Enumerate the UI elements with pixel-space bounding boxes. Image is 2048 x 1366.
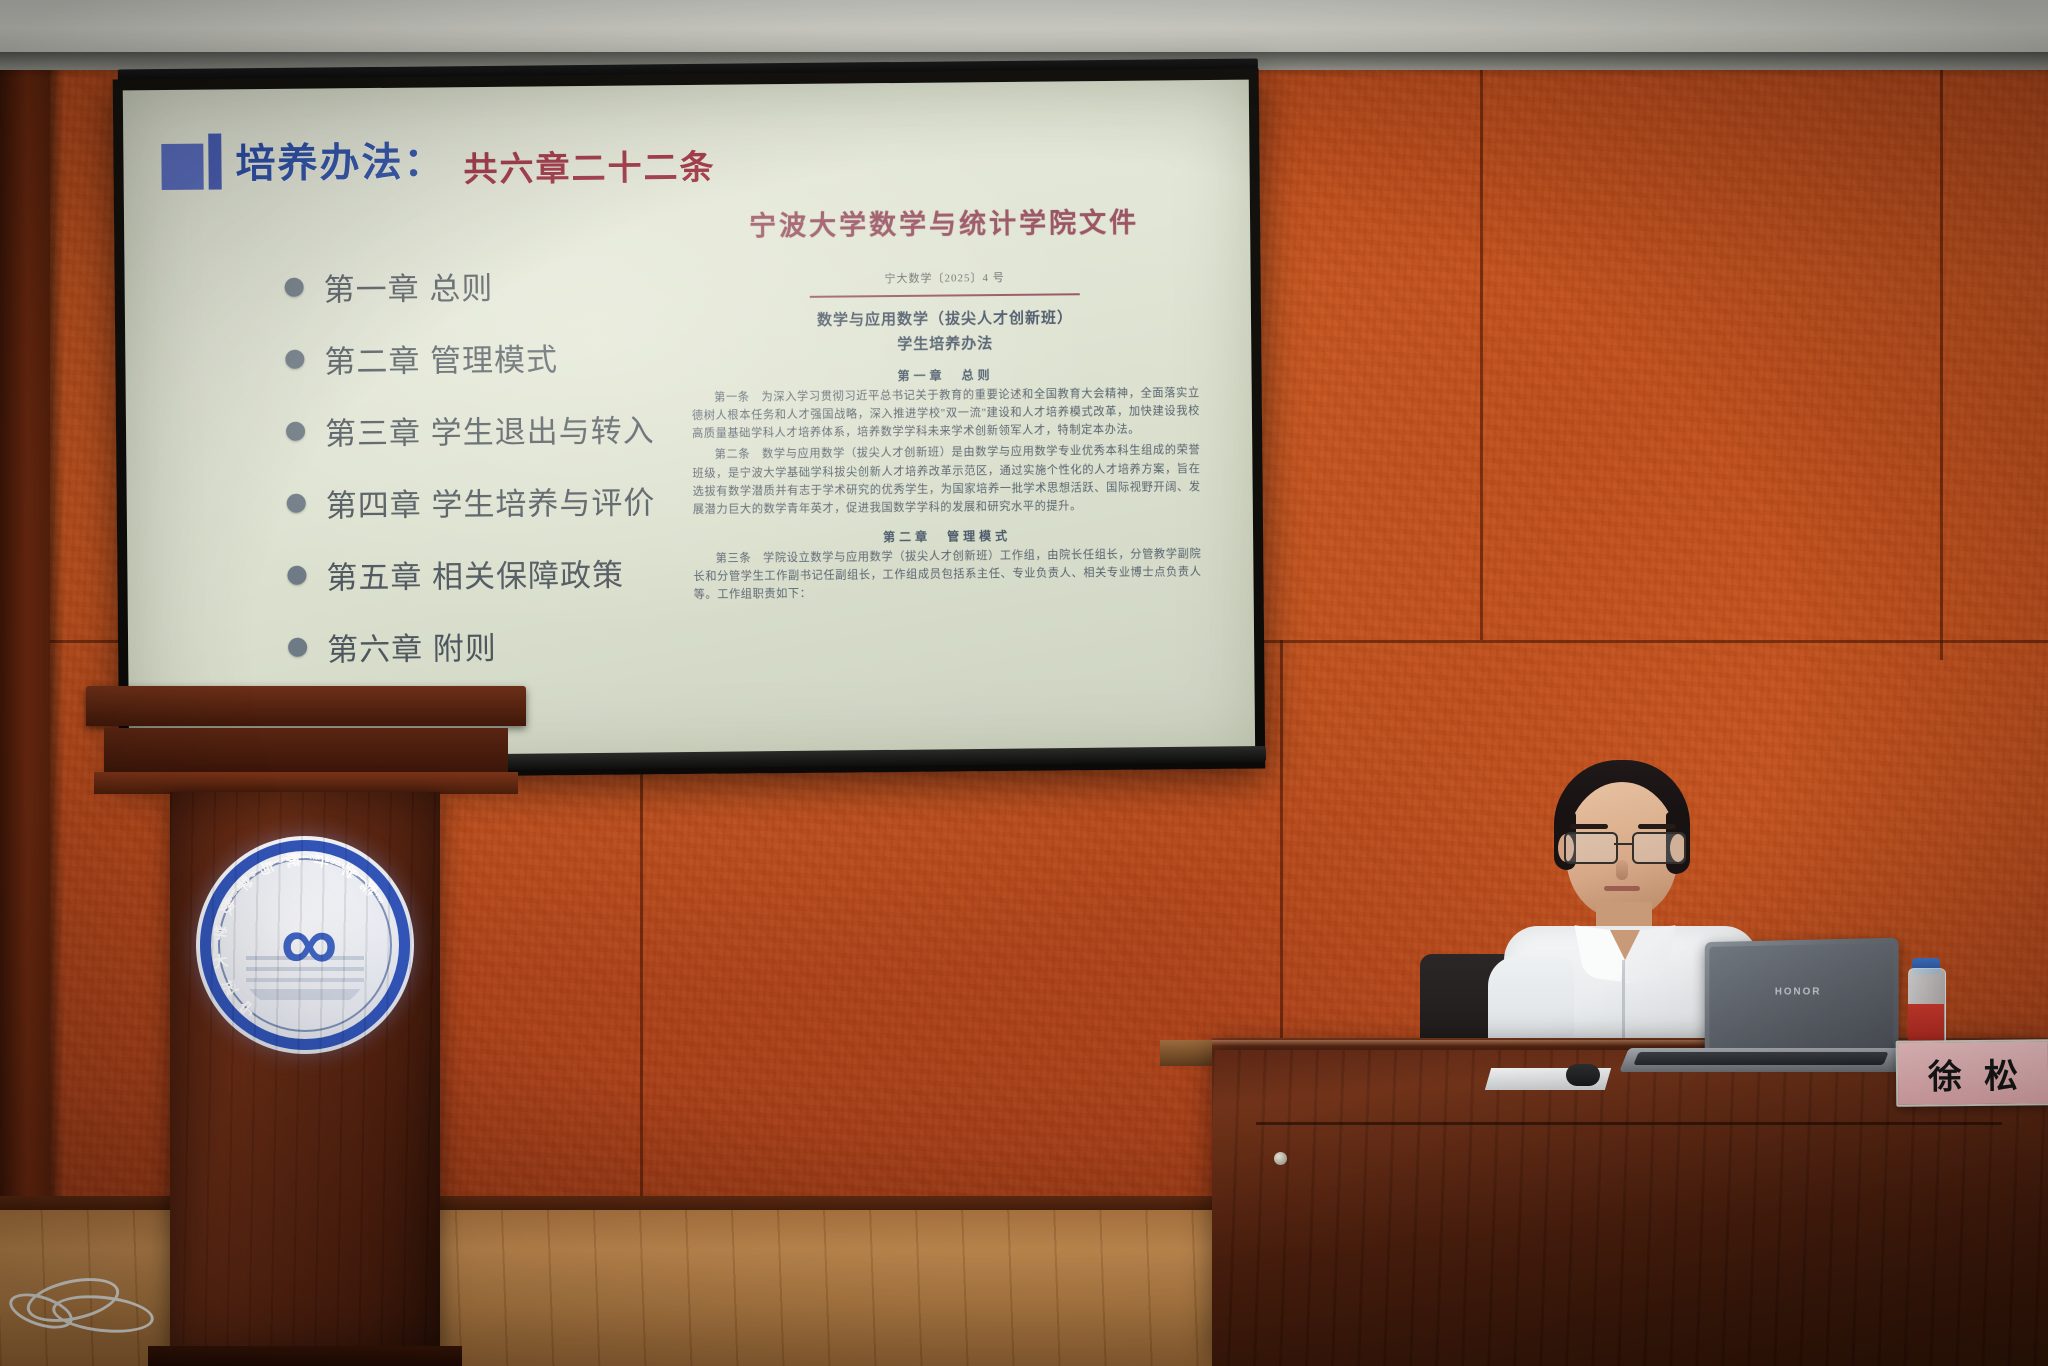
emblem-char: c: [227, 891, 237, 902]
bullet-dot-icon: [285, 278, 304, 297]
document-chapter-2: 第二章 管理模式: [687, 525, 1207, 547]
laptop-screen-back: [1709, 943, 1893, 1055]
emblem-char: s: [363, 879, 374, 890]
emblem-char: 学: [334, 858, 360, 881]
emblem-infinity-icon: ∞: [280, 903, 329, 983]
emblem-char: m: [286, 853, 297, 862]
emblem-char: s: [313, 855, 324, 861]
person-nose: [1616, 860, 1628, 880]
desk-knob: [1274, 1152, 1287, 1165]
emblem-char: e: [281, 855, 292, 862]
left-wall-pillar: [0, 40, 50, 1340]
wall-seam-vertical-2: [1480, 40, 1483, 640]
emblem-char: a: [323, 856, 334, 863]
emblem-char: f: [253, 867, 263, 875]
list-item: 第三章 学生退出与转入: [286, 405, 655, 454]
eyeglasses: [1562, 832, 1684, 862]
bullet-dot-icon: [287, 494, 306, 513]
emblem-char: i: [371, 887, 379, 897]
emblem-char: c: [374, 891, 384, 902]
emblem-char: s: [377, 895, 386, 906]
emblem-char: i: [360, 876, 369, 885]
emblem-char: o: [236, 879, 247, 890]
emblem-char: o: [233, 883, 244, 894]
podium-base: [148, 1346, 462, 1366]
emblem-char: a: [266, 859, 277, 867]
emblem-inner-ring: [218, 858, 392, 1032]
emblem-char: c: [308, 854, 318, 860]
screenshot-root: 培养办法： 共六章二十二条 第一章 总则 第二章 管理模式 第三章 学生退出与转…: [0, 0, 2048, 1366]
emblem-char: 宁: [235, 996, 261, 1021]
bullet-label: 第一章 总则: [323, 263, 493, 310]
laptop-lid: HONOR: [1705, 938, 1899, 1061]
emblem-char: 大: [211, 949, 230, 972]
name-plate: 徐 松: [1896, 1039, 2048, 1107]
emblem-char: s: [342, 864, 353, 873]
emblem-char: t: [271, 859, 281, 865]
lectern-podium: ∞ 宁波大学数学与统计学院 School of mathematics and …: [86, 686, 526, 1366]
document-title-line1: 数学与应用数学（拔尖人才创新班）: [685, 306, 1205, 333]
emblem-char: 学: [211, 922, 229, 945]
emblem-steps-graphic: [246, 956, 364, 1000]
list-item: 第六章 附则: [288, 621, 657, 670]
emblem-char: i: [303, 856, 313, 859]
podium-lip: [94, 772, 518, 794]
emblem-char: h: [229, 887, 239, 898]
slide-heading-main: 培养办法：: [235, 129, 446, 189]
title-marker-icon: [161, 133, 222, 190]
emblem-char: l: [241, 876, 250, 885]
emblem-char: 计: [309, 851, 332, 870]
desk-panel-line: [1256, 1122, 2002, 1125]
bullet-label: 第四章 学生培养与评价: [326, 477, 656, 525]
bullet-label: 第三章 学生退出与转入: [325, 405, 655, 453]
emblem-char: m: [261, 860, 273, 872]
nameplate-surname: 徐: [1928, 1049, 1963, 1098]
emblem-char: t: [297, 855, 307, 858]
glasses-bridge: [1614, 843, 1634, 845]
emblem-center: ∞: [234, 874, 376, 1016]
person-mouth: [1604, 886, 1640, 891]
bullet-dot-icon: [288, 638, 307, 657]
emblem-char: t: [347, 867, 357, 875]
bullet-label: 第五章 相关保障政策: [326, 550, 624, 598]
document-divider: [810, 293, 1080, 298]
bullet-dot-icon: [285, 350, 304, 369]
document-article-1: 第一条 为深入学习贯彻习近平总书记关于教育的重要论述和全国教育大会精神，全面落实…: [686, 384, 1206, 443]
podium-top-surface: [86, 686, 526, 726]
document-chapter-1: 第一章 总则: [685, 364, 1205, 386]
person-eyebrow-left: [1570, 824, 1608, 829]
list-item: 第二章 管理模式: [285, 333, 654, 382]
emblem-char: 院: [356, 875, 381, 901]
glasses-lens-right: [1632, 832, 1686, 864]
person-eyebrow-right: [1638, 824, 1676, 829]
list-item: 第四章 学生培养与评价: [287, 477, 656, 526]
emblem-outer-ring: [200, 840, 410, 1050]
laptop-brand-logo: HONOR: [1775, 986, 1822, 997]
bullet-label: 第二章 管理模式: [324, 334, 558, 381]
water-bottle-label: [1908, 1004, 1944, 1044]
document-number: 宁大数学〔2025〕4 号: [685, 267, 1205, 288]
emblem-char: t: [368, 883, 377, 893]
nameplate-givenname: 松: [1984, 1048, 2019, 1097]
slide-bullet-list: 第一章 总则 第二章 管理模式 第三章 学生退出与转入 第四章 学生培养与评价: [284, 261, 657, 697]
document-article-3: 第三条 学院设立数学与应用数学（拔尖人才创新班）工作组，由院长任组长，分管教学副…: [687, 545, 1207, 604]
emblem-char: t: [356, 873, 366, 882]
computer-mouse[interactable]: [1566, 1064, 1600, 1086]
slide-title: 培养办法： 共六章二十二条: [161, 127, 716, 190]
bullet-dot-icon: [286, 422, 305, 441]
document-title-line2: 学生培养办法: [685, 331, 1205, 358]
emblem-char: h: [276, 856, 287, 864]
emblem-char: a: [351, 869, 362, 879]
bullet-dot-icon: [287, 566, 306, 585]
emblem-char: 统: [282, 851, 305, 869]
document-scan-image: 宁波大学数学与统计学院文件 宁大数学〔2025〕4 号 数学与应用数学（拔尖人才…: [684, 200, 1209, 705]
projection-screen: 培养办法： 共六章二十二条 第一章 总则 第二章 管理模式 第三章 学生退出与转…: [123, 80, 1255, 767]
document-article-2: 第二条 数学与应用数学（拔尖人才创新班）是由数学与应用数学专业优秀本科生组成的荣…: [686, 441, 1207, 519]
podium-neck: [104, 728, 508, 774]
emblem-char: d: [333, 859, 344, 868]
podium-body: ∞ 宁波大学数学与统计学院 School of mathematics and …: [170, 792, 440, 1352]
list-item: 第五章 相关保障政策: [287, 549, 656, 598]
emblem-char: 数: [217, 894, 240, 919]
presentation-slide: 培养办法： 共六章二十二条 第一章 总则 第二章 管理模式 第三章 学生退出与转…: [123, 80, 1255, 767]
emblem-english-text: School of mathematics and statistics: [196, 836, 414, 1054]
emblem-char: 波: [218, 974, 241, 1000]
emblem-char: 学: [231, 871, 256, 896]
wall-seam-vertical-5: [1940, 40, 1943, 660]
slide-heading-sub: 共六章二十二条: [463, 140, 715, 191]
emblem-chinese-text: 宁波大学数学与统计学院: [196, 836, 414, 1054]
list-item: 第一章 总则: [284, 261, 653, 310]
laptop-keyboard[interactable]: [1633, 1052, 1888, 1065]
emblem-char: a: [292, 854, 302, 860]
left-pillar-shadow: [50, 40, 64, 1340]
laptop-computer[interactable]: HONOR: [1700, 940, 1910, 1072]
school-emblem: ∞ 宁波大学数学与统计学院 School of mathematics and …: [196, 836, 414, 1054]
document-header: 宁波大学数学与统计学院文件: [684, 200, 1204, 244]
emblem-char: o: [248, 869, 259, 879]
emblem-char: S: [224, 895, 234, 907]
wall-seam-vertical-4: [1280, 640, 1283, 1060]
projection-screen-frame: 培养办法： 共六章二十二条 第一章 总则 第二章 管理模式 第三章 学生退出与转…: [113, 69, 1266, 780]
bullet-label: 第六章 附则: [327, 623, 497, 670]
emblem-char: 与: [254, 857, 279, 880]
glasses-lens-left: [1564, 832, 1618, 864]
emblem-char: n: [328, 858, 339, 866]
